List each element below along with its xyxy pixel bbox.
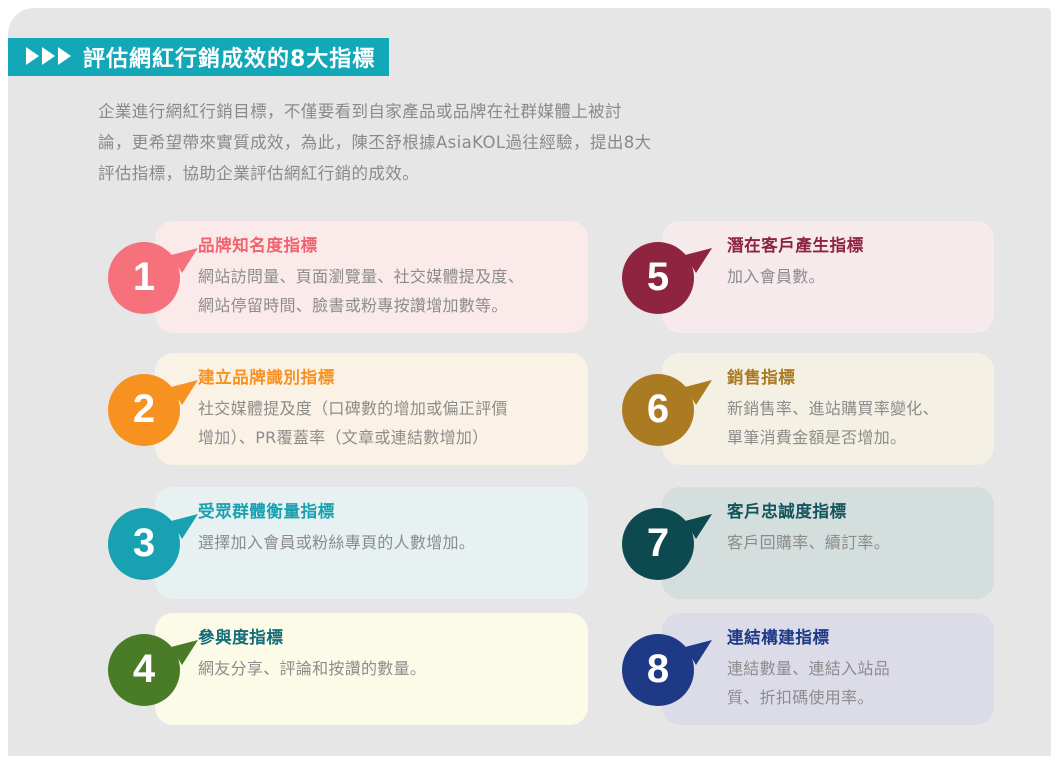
indicator-title: 參與度指標 [198,627,572,649]
indicator-badge: 3 [108,508,204,582]
indicator-description-line: 網站停留時間、臉書或粉專按讚增加數等。 [198,291,572,320]
indicator-description-line: 客戶回購率、續訂率。 [727,528,978,557]
indicator-description-line: 質、折扣碼使用率。 [727,683,978,712]
indicator-title: 品牌知名度指標 [198,235,572,257]
indicator-badge: 7 [622,508,718,582]
indicator-title: 連結構建指標 [727,627,978,649]
indicator-description-line: 網站訪問量、頁面瀏覽量、社交媒體提及度、 [198,262,572,291]
indicator-text: 潛在客戶產生指標加入會員數。 [727,235,978,291]
indicator-description: 社交媒體提及度（口碑數的增加或偏正評價增加）、PR覆蓋率（文章或連結數增加） [198,394,572,452]
indicator-badge: 5 [622,242,718,316]
indicator-description-line: 網友分享、評論和按讚的數量。 [198,654,572,683]
indicator-description-line: 增加）、PR覆蓋率（文章或連結數增加） [198,423,572,452]
indicator-description: 新銷售率、進站購買率變化、單筆消費金額是否增加。 [727,394,978,452]
indicator-text: 連結構建指標連結數量、連結入站品質、折扣碼使用率。 [727,627,978,712]
indicator-badge: 6 [622,374,718,448]
indicator-description: 選擇加入會員或粉絲專頁的人數增加。 [198,528,572,557]
indicator-item: 5潛在客戶產生指標加入會員數。 [622,213,994,338]
indicator-description: 連結數量、連結入站品質、折扣碼使用率。 [727,654,978,712]
triangle-right-icon [58,47,71,65]
indicator-title: 潛在客戶產生指標 [727,235,978,257]
indicator-description-line: 單筆消費金額是否增加。 [727,423,978,452]
indicator-number: 3 [108,508,180,580]
indicator-number: 7 [622,508,694,580]
triangle-right-icon [26,47,39,65]
triangle-right-icon [42,47,55,65]
intro-line: 評估指標，協助企業評估網紅行銷的成效。 [98,158,818,189]
indicator-description-line: 連結數量、連結入站品 [727,654,978,683]
indicator-text: 客戶忠誠度指標客戶回購率、續訂率。 [727,501,978,557]
indicator-item: 7客戶忠誠度指標客戶回購率、續訂率。 [622,479,994,604]
indicator-badge: 1 [108,242,204,316]
indicator-title: 建立品牌識別指標 [198,367,572,389]
indicator-text: 銷售指標新銷售率、進站購買率變化、單筆消費金額是否增加。 [727,367,978,452]
indicator-description: 網站訪問量、頁面瀏覽量、社交媒體提及度、網站停留時間、臉書或粉專按讚增加數等。 [198,262,572,320]
indicator-text: 品牌知名度指標網站訪問量、頁面瀏覽量、社交媒體提及度、網站停留時間、臉書或粉專按… [198,235,572,320]
indicator-description: 客戶回購率、續訂率。 [727,528,978,557]
indicator-number: 5 [622,242,694,314]
indicator-item: 3受眾群體衡量指標選擇加入會員或粉絲專頁的人數增加。 [108,479,588,604]
indicator-item: 6銷售指標新銷售率、進站購買率變化、單筆消費金額是否增加。 [622,345,994,470]
header-arrow-group [26,47,71,67]
header-banner: 評估網紅行銷成效的8大指標 [8,38,389,76]
indicator-number: 8 [622,634,694,706]
indicator-description: 加入會員數。 [727,262,978,291]
indicator-description-line: 選擇加入會員或粉絲專頁的人數增加。 [198,528,572,557]
indicator-title: 客戶忠誠度指標 [727,501,978,523]
indicator-text: 參與度指標網友分享、評論和按讚的數量。 [198,627,572,683]
indicator-description-line: 社交媒體提及度（口碑數的增加或偏正評價 [198,394,572,423]
indicator-item: 1品牌知名度指標網站訪問量、頁面瀏覽量、社交媒體提及度、網站停留時間、臉書或粉專… [108,213,588,338]
indicator-badge: 8 [622,634,718,708]
indicator-badge: 2 [108,374,204,448]
indicator-number: 4 [108,634,180,706]
indicator-number: 1 [108,242,180,314]
intro-line: 論，更希望帶來實質成效，為此，陳丕舒根據AsiaKOL過往經驗，提出8大 [98,127,818,158]
indicator-badge: 4 [108,634,204,708]
indicator-title: 受眾群體衡量指標 [198,501,572,523]
intro-line: 企業進行網紅行銷目標，不僅要看到自家產品或品牌在社群媒體上被討 [98,96,818,127]
indicator-grid: 1品牌知名度指標網站訪問量、頁面瀏覽量、社交媒體提及度、網站停留時間、臉書或粉專… [8,213,1051,738]
indicator-description-line: 新銷售率、進站購買率變化、 [727,394,978,423]
infographic-page: 評估網紅行銷成效的8大指標 企業進行網紅行銷目標，不僅要看到自家產品或品牌在社群… [8,8,1051,756]
intro-paragraph: 企業進行網紅行銷目標，不僅要看到自家產品或品牌在社群媒體上被討 論，更希望帶來實… [98,96,818,189]
indicator-number: 2 [108,374,180,446]
indicator-title: 銷售指標 [727,367,978,389]
indicator-item: 4參與度指標網友分享、評論和按讚的數量。 [108,605,588,730]
page-title: 評估網紅行銷成效的8大指標 [83,41,375,73]
indicator-number: 6 [622,374,694,446]
indicator-text: 受眾群體衡量指標選擇加入會員或粉絲專頁的人數增加。 [198,501,572,557]
indicator-text: 建立品牌識別指標社交媒體提及度（口碑數的增加或偏正評價增加）、PR覆蓋率（文章或… [198,367,572,452]
indicator-description-line: 加入會員數。 [727,262,978,291]
indicator-item: 8連結構建指標連結數量、連結入站品質、折扣碼使用率。 [622,605,994,730]
indicator-description: 網友分享、評論和按讚的數量。 [198,654,572,683]
indicator-item: 2建立品牌識別指標社交媒體提及度（口碑數的增加或偏正評價增加）、PR覆蓋率（文章… [108,345,588,470]
